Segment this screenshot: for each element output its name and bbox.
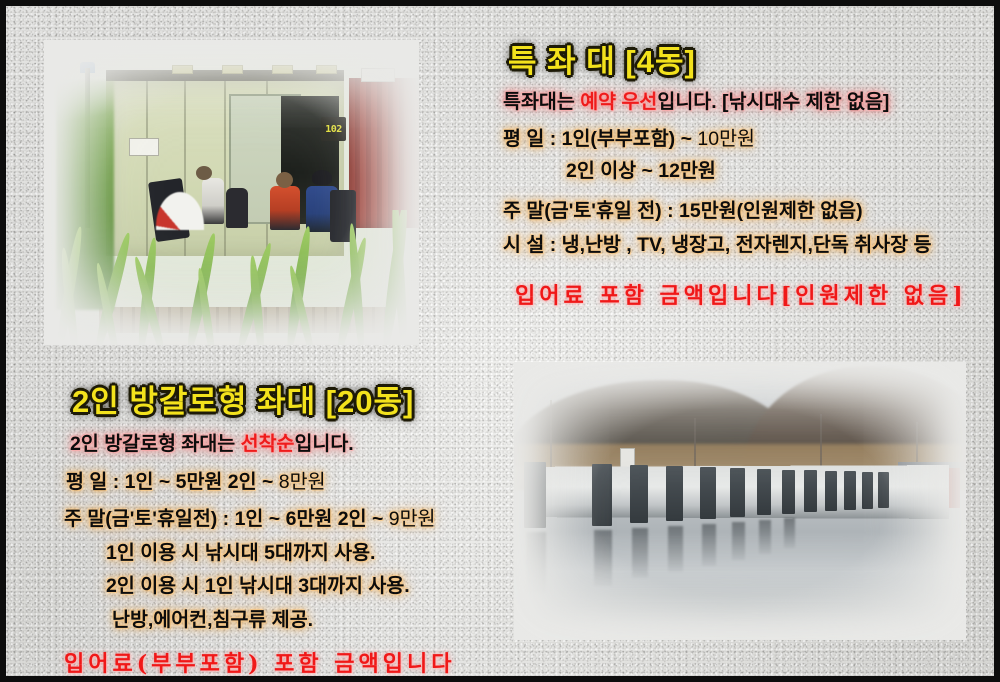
special-platform-section: 특 좌 대 [4동] 특좌대는 예약 우선입니다. [낚시대수 제한 없음] 평… (503, 36, 983, 310)
platform-wall-5 (700, 467, 716, 519)
a2-part-2: 10만원 (697, 128, 755, 150)
platform-wall-13 (878, 472, 889, 508)
a1-part-1: 특좌대는 (503, 91, 580, 113)
angler-3-cap (312, 170, 332, 185)
a2-part-1: 평 일 : 1인(부부포함) ~ (503, 128, 697, 150)
angler-1-head (196, 166, 212, 180)
section-a-title: 특 좌 대 [4동] (503, 36, 983, 81)
room-number-plate: 102 (321, 117, 346, 141)
platform-wall-3 (630, 465, 648, 523)
price-banner-poster: 102 (0, 0, 1000, 682)
b3-part-1: 주 말(금'토'휴일전) : 1인 ~ 6만원 2인 ~ (64, 508, 389, 530)
roof-vent-4 (316, 65, 337, 74)
reed-foreground (44, 210, 419, 345)
platform-wall-6 (730, 468, 745, 517)
lake-platforms-photo (514, 362, 966, 640)
roof-vent-1 (172, 65, 193, 74)
platform-wall-11 (844, 471, 856, 510)
roof-vent-2 (222, 65, 243, 74)
section-a-line-3: 2인 이상 ~ 12만원 (566, 162, 983, 182)
platform-wall-10 (825, 471, 837, 511)
b3-part-2: 9만원 (389, 508, 436, 530)
section-b-line-6: 난방,에어컨,침구류 제공. (112, 611, 534, 631)
b1-part-3: 입니다. (294, 433, 353, 455)
section-b-title: 2인 방갈로형 좌대 [20동] (64, 376, 534, 421)
section-a-line-4: 주 말(금'토'휴일 전) : 15만원(인원제한 없음) (503, 202, 983, 222)
angler-2-head (276, 172, 293, 188)
b1-part-1: 2인 방갈로형 좌대는 (70, 433, 241, 455)
section-b-line-5: 2인 이용 시 1인 낚시대 3대까지 사용. (106, 577, 534, 597)
bungalow-platform-section: 2인 방갈로형 좌대 [20동] 2인 방갈로형 좌대는 선착순입니다. 평 일… (64, 376, 534, 678)
container-cabin-photo: 102 (44, 40, 419, 345)
a1-part-2: 예약 우선 (580, 91, 657, 113)
section-b-line-3: 주 말(금'토'휴일전) : 1인 ~ 6만원 2인 ~ 9만원 (64, 510, 534, 530)
platform-wall-9 (804, 470, 817, 512)
b2-part-2: 8만원 (279, 471, 326, 493)
section-a-line-1: 특좌대는 예약 우선입니다. [낚시대수 제한 없음] (503, 93, 983, 113)
section-a-script-note: 입어료 포함 금액입니다[인원제한 없음] (503, 278, 983, 310)
wall-notice-sign (129, 138, 159, 156)
section-a-line-2: 평 일 : 1인(부부포함) ~ 10만원 (503, 130, 983, 150)
platform-wall-8 (782, 470, 795, 514)
section-b-line-2: 평 일 : 1인 ~ 5만원 2인 ~ 8만원 (64, 473, 534, 493)
red-container-building (349, 78, 419, 228)
b1-part-2: 선착순 (241, 433, 295, 455)
platform-wall-4 (666, 466, 683, 521)
platform-wall-7 (757, 469, 771, 515)
a1-part-3: 입니다. [낚시대수 제한 없음] (657, 91, 889, 113)
section-b-line-1: 2인 방갈로형 좌대는 선착순입니다. (64, 435, 534, 455)
section-a-line-5: 시 설 : 냉,난방 , TV, 냉장고, 전자렌지,단독 취사장 등 (503, 236, 983, 256)
roof-vent-3 (272, 65, 293, 74)
section-b-line-4: 1인 이용 시 낚시대 5대까지 사용. (106, 544, 534, 564)
platform-wall-2 (592, 464, 612, 526)
section-b-script-note: 입어료(부부포함) 포함 금액입니다 (64, 646, 534, 678)
ac-unit (361, 68, 395, 82)
b2-part-1: 평 일 : 1인 ~ 5만원 2인 ~ (66, 471, 279, 493)
platform-wall-12 (862, 472, 873, 509)
